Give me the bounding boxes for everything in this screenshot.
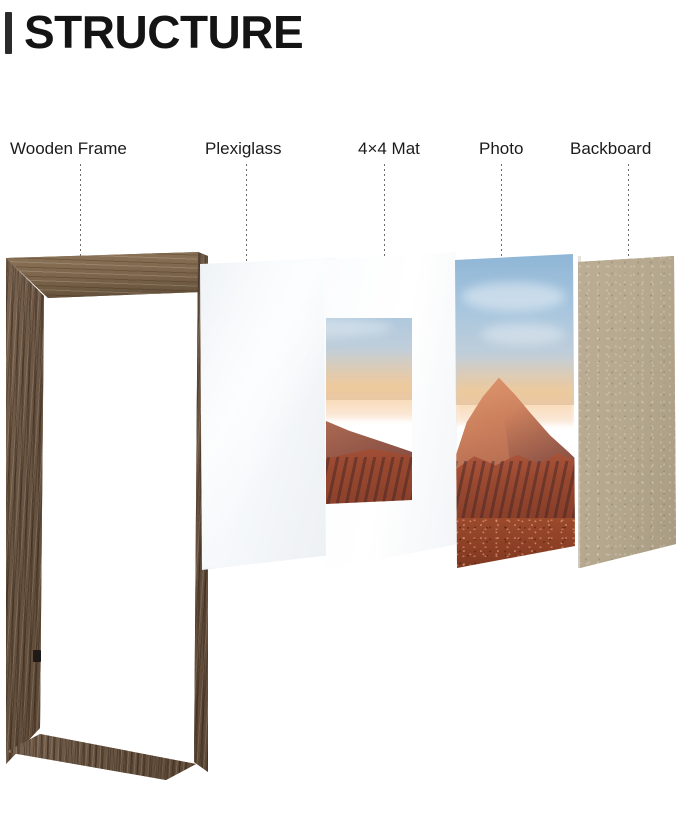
layer-photo [455, 254, 575, 568]
plexiglass-sheen [200, 258, 340, 570]
exploded-layer-stack [0, 0, 679, 574]
mat-window-photo-showthrough [326, 318, 412, 504]
photo-artwork-duplicate [326, 318, 412, 504]
mat-window-cutout [326, 318, 412, 504]
layer-plexiglass [200, 258, 340, 570]
layer-mat [324, 252, 458, 570]
photo-foreground-texture [455, 518, 575, 568]
frame-clip-hardware [33, 650, 41, 662]
photo-ridge-texture [326, 457, 412, 504]
photo-artwork [455, 254, 575, 568]
photo-sunset-glow [326, 348, 412, 418]
frame-rail-left [6, 258, 46, 810]
layer-backboard [578, 256, 676, 568]
photo-cloud [462, 282, 565, 310]
photo-cloud [481, 323, 565, 345]
frame-opening [42, 292, 166, 768]
photo-ridge-texture [455, 461, 575, 518]
layer-wooden-frame [6, 252, 202, 572]
